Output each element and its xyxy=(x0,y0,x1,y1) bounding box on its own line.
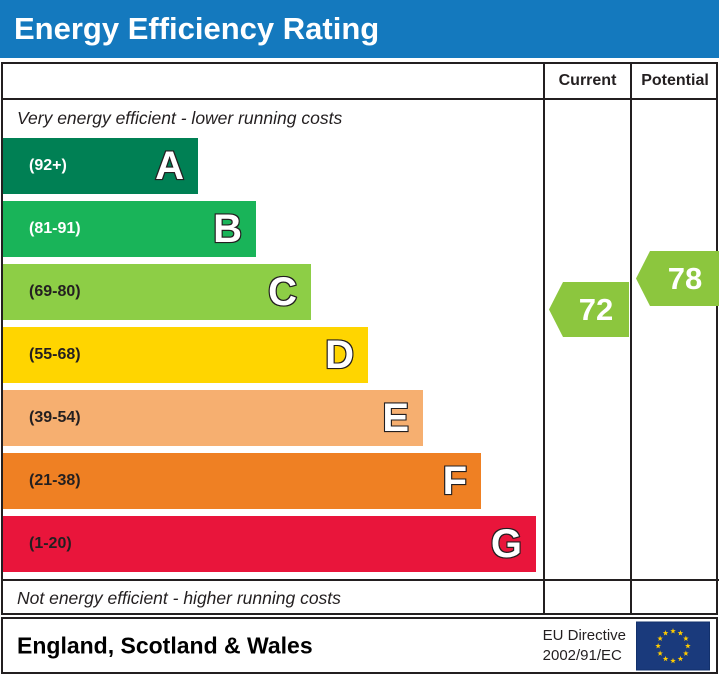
band-row: (1-20) G xyxy=(3,516,536,572)
page-title: Energy Efficiency Rating xyxy=(14,11,379,47)
band-letter-label: A xyxy=(155,146,184,186)
band-row: (81-91) B xyxy=(3,201,256,257)
column-header-current: Current xyxy=(545,64,630,98)
table-header-row: Current Potential xyxy=(3,64,716,100)
column-divider-current xyxy=(543,64,545,613)
band-row: (21-38) F xyxy=(3,453,481,509)
band-range-label: (39-54) xyxy=(29,409,81,427)
band-row: (55-68) D xyxy=(3,327,368,383)
band-row: (92+) A xyxy=(3,138,198,194)
footer-directive-line1: EU Directive xyxy=(543,625,626,645)
band-row: (39-54) E xyxy=(3,390,423,446)
band-range-label: (69-80) xyxy=(29,283,81,301)
eu-flag-icon xyxy=(636,621,710,670)
caption-very-efficient: Very energy efficient - lower running co… xyxy=(3,100,543,136)
caption-not-efficient-text: Not energy efficient - higher running co… xyxy=(17,581,719,615)
current-rating-value: 72 xyxy=(579,294,613,325)
rating-table: Current Potential Very energy efficient … xyxy=(1,62,718,615)
column-header-potential: Potential xyxy=(632,64,718,98)
band-range-label: (1-20) xyxy=(29,535,72,553)
caption-not-efficient: Not energy efficient - higher running co… xyxy=(3,579,719,613)
footer-directive-label: EU Directive 2002/91/EC xyxy=(543,625,626,666)
band-list: (92+) A (81-91) B (69-80) C (55-68) D (3… xyxy=(3,138,543,579)
band-letter-label: C xyxy=(268,272,297,312)
footer-bar: England, Scotland & Wales EU Directive 2… xyxy=(1,617,718,674)
band-range-label: (21-38) xyxy=(29,472,81,490)
band-range-label: (92+) xyxy=(29,157,67,175)
band-letter-label: B xyxy=(213,209,242,249)
band-letter-label: D xyxy=(325,335,354,375)
band-range-label: (55-68) xyxy=(29,346,81,364)
band-letter-label: F xyxy=(443,461,467,501)
current-rating-badge: 72 xyxy=(549,282,629,337)
chart-title-bar: Energy Efficiency Rating xyxy=(0,0,719,58)
band-row: (69-80) C xyxy=(3,264,311,320)
column-divider-potential xyxy=(630,64,632,613)
band-range-label: (81-91) xyxy=(29,220,81,238)
potential-rating-badge: 78 xyxy=(636,251,719,306)
band-letter-label: G xyxy=(491,524,522,564)
potential-rating-value: 78 xyxy=(668,263,702,294)
band-letter-label: E xyxy=(382,398,409,438)
footer-directive-line2: 2002/91/EC xyxy=(543,646,626,666)
energy-efficiency-rating-chart: Energy Efficiency Rating Current Potenti… xyxy=(0,0,719,675)
footer-region-label: England, Scotland & Wales xyxy=(17,632,313,659)
